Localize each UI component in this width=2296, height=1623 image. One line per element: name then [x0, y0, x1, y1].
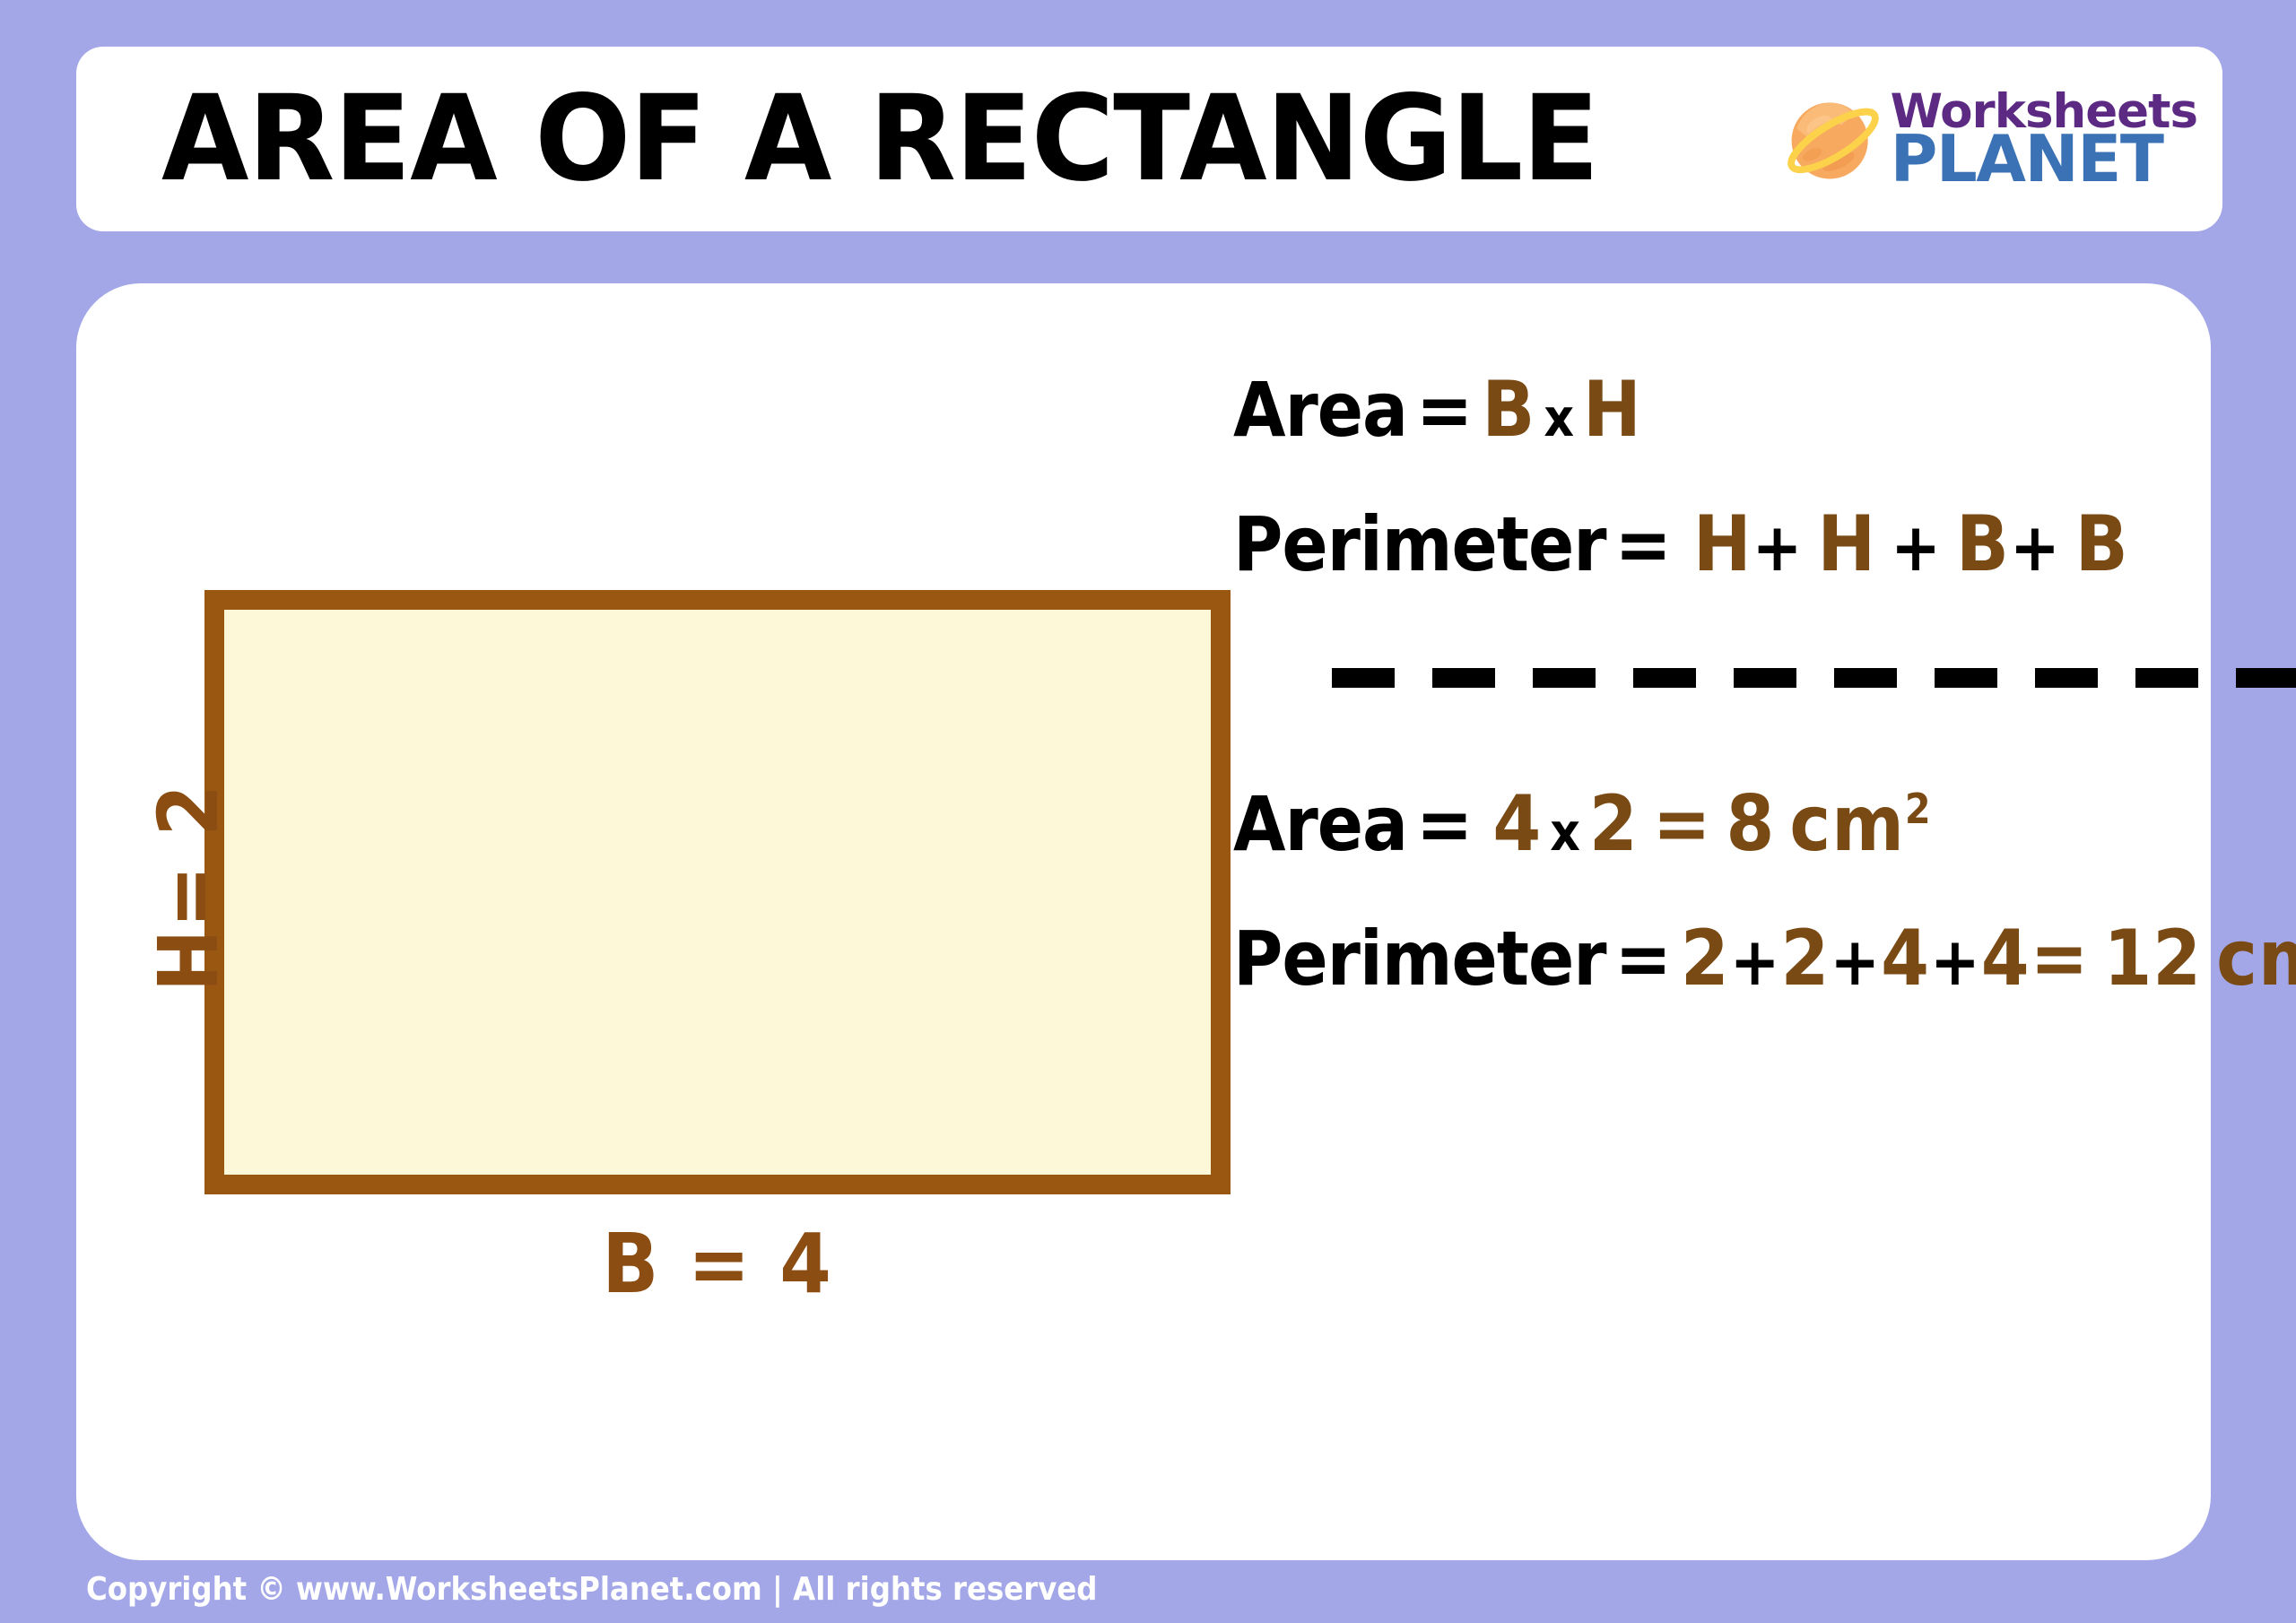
multiply-sign: x	[1535, 392, 1583, 444]
formula-area-worked: Area = 4 x 2 = 8 cm 2	[1233, 785, 1931, 863]
dashed-divider	[1332, 668, 2296, 688]
area-operand-1: 4	[1492, 785, 1542, 863]
plus-sign-1: +	[1752, 515, 1804, 581]
formula-area-general: Area = B x H	[1233, 371, 1642, 448]
plus-sign-3: +	[1930, 929, 1981, 995]
formula-label-area-worked: Area	[1233, 786, 1407, 862]
perimeter-unit: cm	[2216, 920, 2296, 997]
area-exponent: 2	[1905, 788, 1931, 829]
logo-wordmark: Worksheets PLANET	[1891, 92, 2197, 186]
formula-perimeter-worked: Perimeter = 2 + 2 + 4 + 4 = 12 cm	[1233, 920, 2296, 997]
header-card: AREA OF A RECTANGLE Worksheets PLANET	[76, 47, 2222, 231]
logo-planet-text: PLANET	[1891, 133, 2197, 186]
page-title: AREA OF A RECTANGLE	[161, 80, 1598, 198]
equals-sign: =	[1407, 372, 1482, 447]
formula-label-area: Area	[1233, 372, 1407, 447]
formula-term-b: B	[1482, 371, 1535, 448]
planet-icon	[1781, 87, 1885, 191]
perimeter-operand-1: 2	[1681, 920, 1730, 997]
area-result: 8	[1726, 785, 1776, 863]
plus-sign-2: +	[1891, 515, 1942, 581]
area-unit: cm	[1789, 785, 1904, 863]
perimeter-term-b1: B	[1956, 506, 2010, 583]
formula-label-perimeter-worked: Perimeter	[1233, 921, 1606, 996]
perimeter-operand-2: 2	[1780, 920, 1830, 997]
height-label: H= 2	[141, 783, 237, 992]
formula-label-perimeter: Perimeter	[1233, 507, 1606, 582]
equals-sign: =	[1407, 786, 1482, 862]
perimeter-operand-3: 4	[1881, 920, 1930, 997]
perimeter-term-h2: H	[1817, 506, 1876, 583]
perimeter-result: 12	[2103, 920, 2202, 997]
footer-copyright: Copyright © www.WorksheetsPlanet.com | A…	[86, 1571, 1097, 1608]
equals-sign-2: =	[2031, 920, 2090, 997]
formula-term-h: H	[1583, 371, 1642, 448]
base-label: B = 4	[204, 1216, 1231, 1312]
rectangle-figure	[204, 590, 1231, 1194]
formula-perimeter-general: Perimeter = H + H + B + B	[1233, 506, 2129, 583]
formula-panel: Area = B x H Perimeter = H + H + B + B A…	[1233, 337, 2184, 1503]
area-operand-2: 2	[1589, 785, 1639, 863]
perimeter-term-h1: H	[1693, 506, 1752, 583]
multiply-sign: x	[1542, 806, 1589, 858]
equals-sign: =	[1606, 507, 1681, 582]
brand-logo[interactable]: Worksheets PLANET	[1781, 87, 2197, 191]
perimeter-operand-4: 4	[1981, 920, 2031, 997]
perimeter-term-b2: B	[2075, 506, 2129, 583]
plus-sign-2: +	[1830, 929, 1881, 995]
main-content-card: H= 2 B = 4 Area = B x H Perimeter = H + …	[76, 283, 2211, 1560]
equals-sign: =	[1606, 921, 1681, 996]
equals-sign-2: =	[1653, 785, 1712, 863]
plus-sign-3: +	[2010, 515, 2061, 581]
plus-sign-1: +	[1730, 929, 1781, 995]
